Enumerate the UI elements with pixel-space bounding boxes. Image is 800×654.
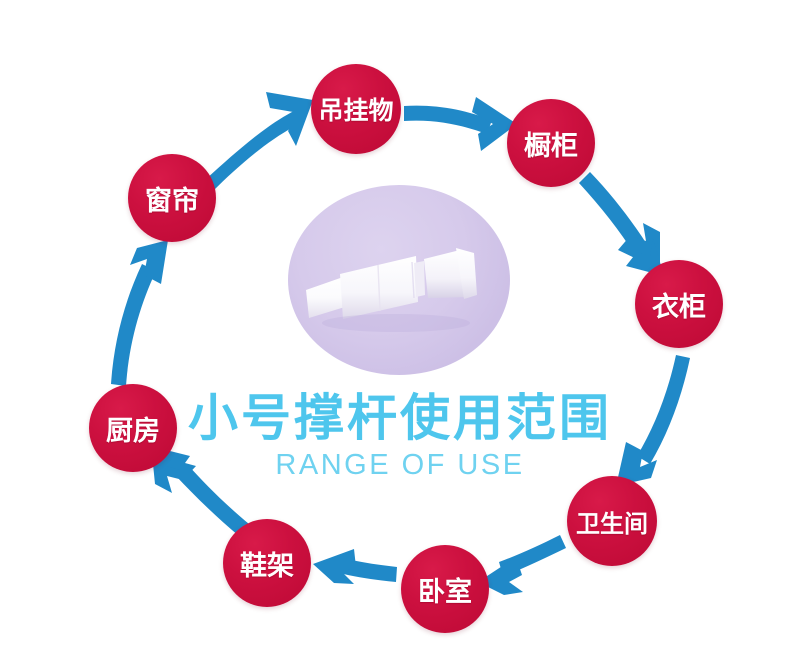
range-of-use-infographic: 小号撑杆使用范围 RANGE OF USE 吊挂物橱柜衣柜卫生间卧室鞋架厨房窗帘 <box>0 0 800 654</box>
arrow-bathroom-to-bedroom <box>478 535 566 595</box>
product-photo <box>288 185 510 375</box>
bubble-bottom[interactable]: 卧室 <box>401 545 489 633</box>
bubble-top[interactable]: 吊挂物 <box>311 64 401 154</box>
bubble-bottom-left[interactable]: 鞋架 <box>223 519 311 607</box>
bubble-label: 吊挂物 <box>318 91 393 127</box>
bubble-label: 窗帘 <box>145 179 199 218</box>
arrow-bedroom-to-shoerack <box>313 549 397 584</box>
bubble-right[interactable]: 衣柜 <box>635 260 723 348</box>
bubble-label: 厨房 <box>106 409 160 448</box>
bubble-top-right[interactable]: 橱柜 <box>507 99 595 187</box>
caption-title-en: RANGE OF USE <box>150 449 650 482</box>
center-caption: 小号撑杆使用范围 RANGE OF USE <box>150 392 650 482</box>
bubble-label: 卫生间 <box>576 504 648 539</box>
bubble-label: 衣柜 <box>652 285 706 324</box>
arrow-kitchen-to-curtain <box>111 240 168 386</box>
arrow-curtain-to-hanging <box>205 92 313 192</box>
bubble-label: 橱柜 <box>524 124 578 163</box>
bubble-top-left[interactable]: 窗帘 <box>128 154 216 242</box>
bubble-bottom-right[interactable]: 卫生间 <box>567 476 657 566</box>
bubble-label: 卧室 <box>418 570 472 609</box>
bubble-left[interactable]: 厨房 <box>89 384 177 472</box>
arrow-cupboard-to-wardrobe <box>579 172 664 276</box>
bubble-label: 鞋架 <box>240 544 294 583</box>
caption-title-cn: 小号撑杆使用范围 <box>150 392 650 444</box>
white-telescoping-rod-illustration <box>288 185 510 375</box>
arrow-hanging-to-cupboard <box>404 97 517 151</box>
